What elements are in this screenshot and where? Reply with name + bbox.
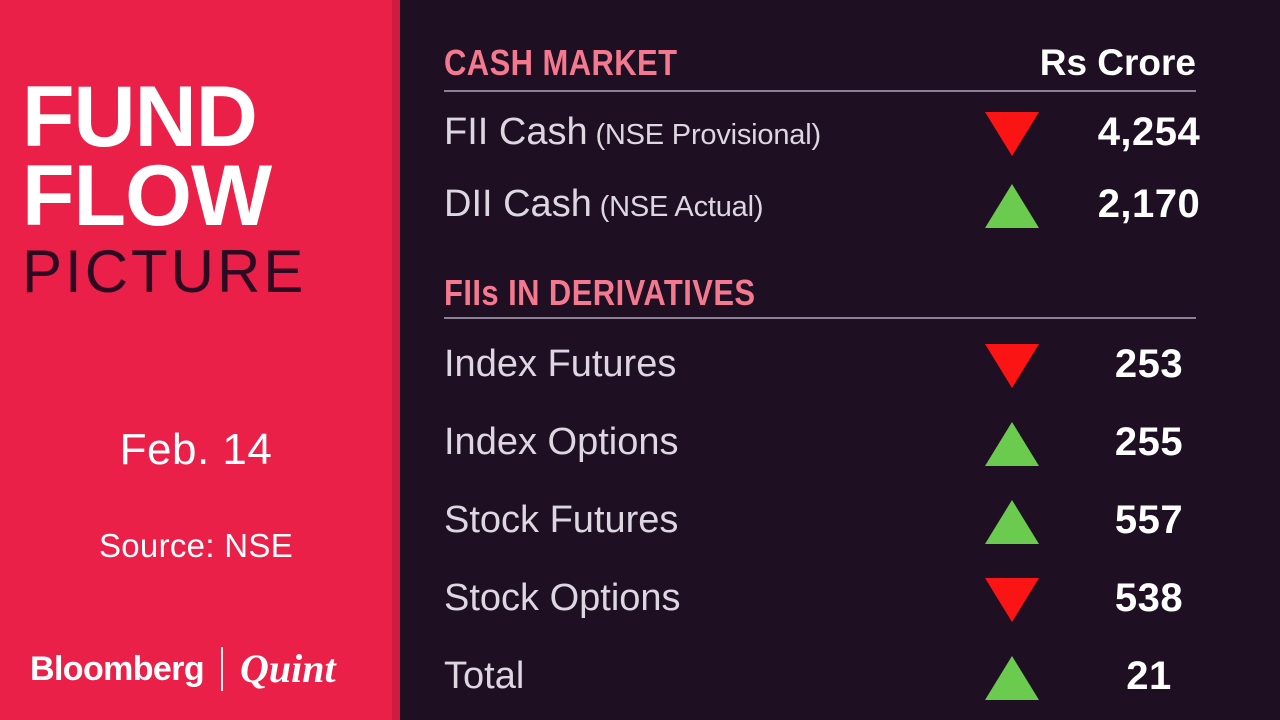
row-label-sub: (NSE Provisional) — [588, 119, 821, 151]
brand-title-block: FUND FLOW PICTURE — [22, 78, 382, 302]
table-row: FII Cash (NSE Provisional) 4,254 — [444, 106, 1204, 162]
row-value: 255 — [1054, 416, 1244, 468]
table-row: Stock Options 538 — [444, 572, 1204, 628]
section-header-derivatives: FIIs IN DERIVATIVES — [444, 272, 756, 314]
triangle-up-icon — [984, 656, 1040, 702]
row-value: 4,254 — [1054, 106, 1244, 158]
triangle-up-icon — [984, 500, 1040, 546]
row-value: 21 — [1054, 650, 1244, 702]
units-header: Rs Crore — [1040, 42, 1196, 84]
table-row: Index Options 255 — [444, 416, 1204, 472]
row-value: 253 — [1054, 338, 1244, 390]
row-label-main: Stock Futures — [444, 499, 678, 541]
row-label: Total — [444, 650, 524, 705]
table-row: Total 21 — [444, 650, 1204, 706]
source-label: Source: NSE — [0, 527, 392, 565]
triangle-down-icon — [984, 344, 1040, 390]
logo-divider — [221, 647, 223, 691]
row-label: DII Cash (NSE Actual) — [444, 178, 763, 233]
row-label-main: Index Futures — [444, 343, 676, 385]
row-label: Stock Options — [444, 572, 681, 627]
triangle-up-icon — [984, 184, 1040, 230]
triangle-up-icon — [984, 422, 1040, 468]
row-label: Index Futures — [444, 338, 676, 393]
brand-title-line-3: PICTURE — [22, 242, 382, 302]
table-row: Index Futures 253 — [444, 338, 1204, 394]
table-row: Stock Futures 557 — [444, 494, 1204, 550]
row-label: FII Cash (NSE Provisional) — [444, 106, 821, 161]
row-label-sub: (NSE Actual) — [592, 191, 763, 223]
panel-edge-accent — [392, 0, 400, 720]
row-label-main: Index Options — [444, 421, 678, 463]
brand-panel: FUND FLOW PICTURE Feb. 14 Source: NSE Bl… — [0, 0, 400, 720]
brand-title-line-2: FLOW — [22, 157, 382, 236]
logo-bloomberg-text: Bloomberg — [30, 652, 204, 686]
row-label-main: FII Cash — [444, 111, 588, 153]
data-panel: CASH MARKET Rs Crore FII Cash (NSE Provi… — [400, 0, 1280, 720]
fund-flow-infographic: FUND FLOW PICTURE Feb. 14 Source: NSE Bl… — [0, 0, 1280, 720]
brand-title-line-1: FUND — [22, 78, 382, 157]
row-label-main: DII Cash — [444, 183, 592, 225]
row-label: Index Options — [444, 416, 678, 471]
logo-quint-text: Quint — [240, 649, 336, 689]
triangle-down-icon — [984, 578, 1040, 624]
row-label-main: Stock Options — [444, 577, 681, 619]
table-row: DII Cash (NSE Actual) 2,170 — [444, 178, 1204, 234]
section-rule-derivatives — [444, 317, 1196, 319]
date-label: Feb. 14 — [0, 425, 392, 475]
row-value: 557 — [1054, 494, 1244, 546]
triangle-down-icon — [984, 112, 1040, 158]
row-value: 538 — [1054, 572, 1244, 624]
publisher-logo: Bloomberg Quint — [30, 646, 336, 692]
section-rule-cash-market — [444, 90, 1196, 92]
row-value: 2,170 — [1054, 178, 1244, 230]
section-header-cash-market: CASH MARKET — [444, 42, 677, 84]
row-label: Stock Futures — [444, 494, 678, 549]
row-label-main: Total — [444, 655, 524, 697]
